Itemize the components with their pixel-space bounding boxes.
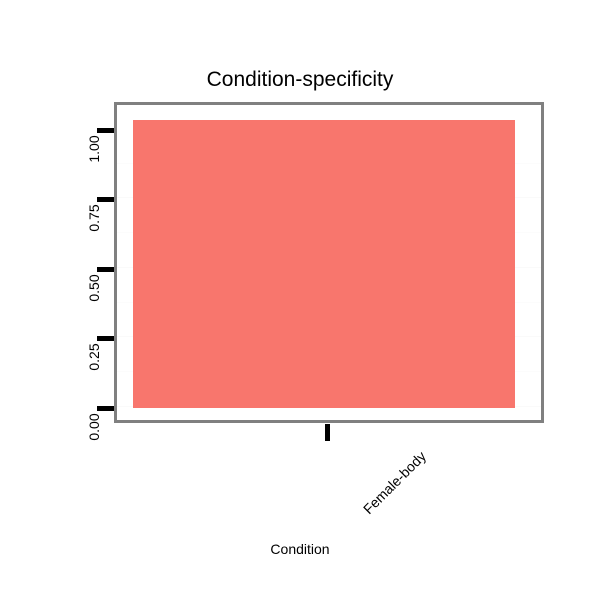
x-tick-label-female-body: Female-body — [360, 448, 429, 517]
y-tick-label-0.75: 0.75 — [86, 201, 102, 235]
y-tick-label-0.50: 0.50 — [86, 271, 102, 305]
x-axis-title: Condition — [0, 541, 600, 557]
y-tick-label-1.00: 1.00 — [86, 132, 102, 166]
y-tick-label-0.25: 0.25 — [86, 340, 102, 374]
chart-title: Condition-specificity — [0, 68, 600, 92]
y-tick-label-0.00: 0.00 — [86, 410, 102, 444]
plot-panel — [114, 102, 544, 423]
bar-female-body[interactable] — [133, 120, 515, 408]
chart-figure: Condition-specificity Total Reads 1.00 0… — [0, 0, 600, 600]
x-tick-mark-female-body — [325, 424, 330, 441]
plot-panel-inner — [117, 105, 541, 420]
